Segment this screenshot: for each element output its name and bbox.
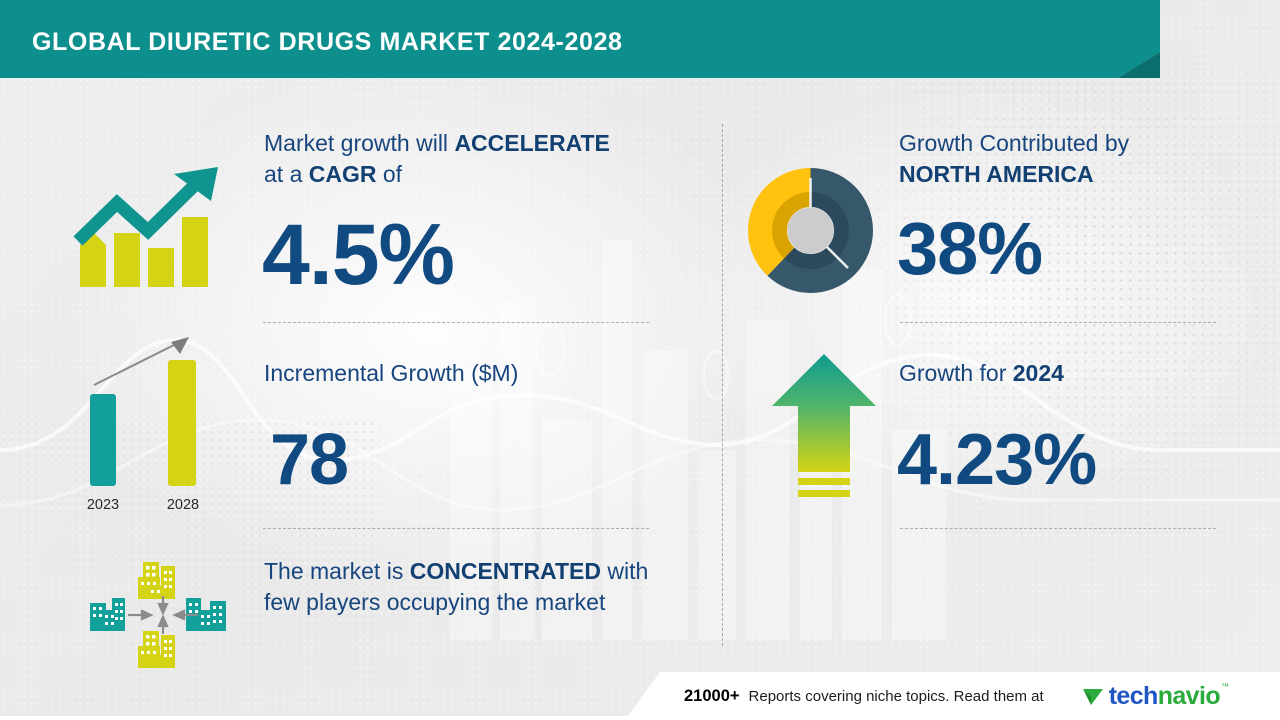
right-divider-2 [900, 528, 1216, 529]
cagr-line1-prefix: Market growth will [264, 130, 454, 156]
technavio-logo[interactable]: technavio ™ [1081, 684, 1228, 709]
na-line1: Growth Contributed by [899, 130, 1129, 156]
growth-year-prefix: Growth for [899, 360, 1013, 386]
cagr-line2-suffix: of [377, 161, 403, 187]
na-line2-bold: NORTH AMERICA [899, 161, 1094, 187]
concentration-prefix: The market is [264, 558, 410, 584]
page-title: GLOBAL DIURETIC DRUGS MARKET 2024-2028 [32, 28, 623, 57]
bar-label-2028: 2028 [158, 497, 208, 513]
left-divider-1 [263, 322, 649, 323]
logo-trademark: ™ [1221, 682, 1229, 691]
market-concentration-icon [88, 552, 238, 678]
two-bars-icon [68, 330, 238, 515]
footer-content: 21000+ Reports covering niche topics. Re… [684, 684, 1228, 709]
concentration-description: The market is CONCENTRATED with few play… [264, 556, 654, 618]
cagr-line2-bold: CAGR [309, 161, 377, 187]
north-america-value: 38% [897, 212, 1042, 286]
concentration-bold: CONCENTRATED [410, 558, 601, 584]
growth-year-value: 4.23% [897, 424, 1096, 496]
cagr-line2-prefix: at a [264, 161, 309, 187]
bar-label-2023: 2023 [78, 497, 128, 513]
left-divider-2 [263, 528, 649, 529]
right-divider-1 [900, 322, 1216, 323]
incremental-growth-label: Incremental Growth ($M) [264, 358, 664, 389]
logo-text-navio: navio [1158, 682, 1220, 710]
cagr-description: Market growth will ACCELERATE at a CAGR … [264, 128, 664, 190]
donut-chart-icon [748, 168, 873, 293]
footer-report-count: 21000+ [684, 687, 740, 706]
incremental-growth-value: 78 [270, 424, 348, 496]
north-america-description: Growth Contributed by NORTH AMERICA [899, 128, 1229, 190]
cagr-line1-bold: ACCELERATE [454, 130, 609, 156]
infographic-canvas: GLOBAL DIURETIC DRUGS MARKET 2024-2028 M… [0, 0, 1280, 720]
growth-year-description: Growth for 2024 [899, 358, 1229, 389]
logo-text-tech: tech [1109, 682, 1158, 710]
growth-year-bold: 2024 [1013, 360, 1064, 386]
technavio-mark-icon [1081, 685, 1107, 709]
column-divider [722, 124, 723, 646]
growth-chart-icon [70, 145, 230, 290]
up-arrow-icon [768, 348, 880, 508]
cagr-value: 4.5% [262, 212, 454, 298]
footer-tagline: Reports covering niche topics. Read them… [749, 688, 1044, 705]
